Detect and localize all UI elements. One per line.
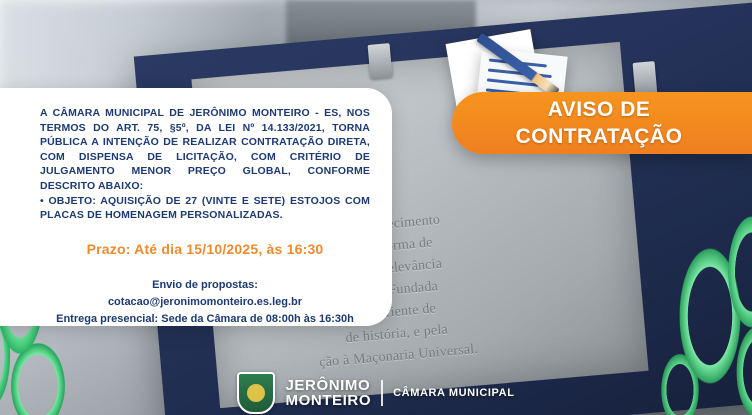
delivery-info: Entrega presencial: Sede da Câmara de 08…: [40, 311, 370, 328]
footer-branding: JERÔNIMO MONTEIRO CÂMARA MUNICIPAL: [0, 371, 752, 415]
ribbon-title: AVISO DE CONTRATAÇÃO: [464, 96, 734, 150]
notice-paragraph: A CÂMARA MUNICIPAL DE JERÔNIMO MONTEIRO …: [40, 106, 370, 194]
case-clasp-left-icon: [368, 43, 393, 79]
notice-card: A CÂMARA MUNICIPAL DE JERÔNIMO MONTEIRO …: [0, 88, 392, 326]
contact-email[interactable]: cotacao@jeronimomonteiro.es.leg.br: [40, 294, 370, 311]
notice-deadline: Prazo: Até dia 15/10/2025, às 16:30: [40, 241, 370, 257]
poster-canvas: em agradecimento como forma de grande re…: [0, 0, 752, 415]
notice-contact-block: Envio de propostas: cotacao@jeronimomont…: [40, 277, 370, 328]
brand-name: JERÔNIMO MONTEIRO: [285, 378, 371, 408]
ribbon-title-line1: AVISO DE: [464, 96, 734, 123]
footer-divider: [381, 380, 383, 406]
proposals-label: Envio de propostas:: [40, 277, 370, 294]
notice-object-line: • OBJETO: AQUISIÇÃO DE 27 (VINTE E SETE)…: [40, 194, 370, 223]
council-label: CÂMARA MUNICIPAL: [393, 387, 514, 399]
notice-body: A CÂMARA MUNICIPAL DE JERÔNIMO MONTEIRO …: [40, 106, 370, 223]
brand-line-2: MONTEIRO: [285, 393, 371, 408]
coat-of-arms-icon: [237, 372, 275, 414]
ribbon-title-line2: CONTRATAÇÃO: [464, 123, 734, 150]
